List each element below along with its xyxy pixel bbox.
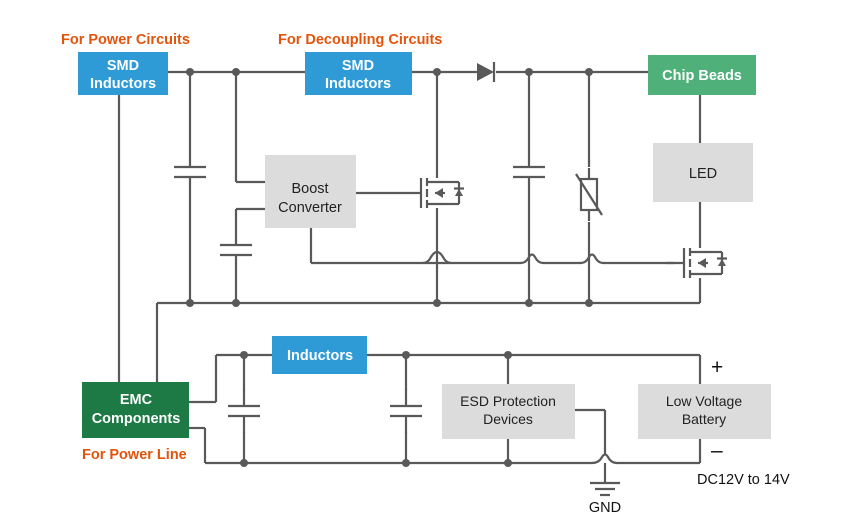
block-label-emc-line2: Components	[92, 411, 181, 427]
junction-dot	[232, 299, 240, 307]
block-label-battery-line1: Low Voltage	[666, 393, 742, 409]
battery-voltage-label: DC12V to 14V	[697, 472, 790, 488]
junction-dot	[402, 459, 410, 467]
block-emc-components[interactable]: EMC Components	[82, 382, 189, 438]
block-label-esd-line1: ESD Protection	[460, 393, 556, 409]
capacitor-symbol-c4	[228, 389, 260, 433]
block-smd-inductors-power[interactable]: SMD Inductors	[78, 52, 168, 95]
mosfet-symbol-2	[666, 248, 727, 278]
block-label-emc-line1: EMC	[120, 392, 153, 408]
circuit-diagram: SMD Inductors SMD Inductors Chip Beads B…	[0, 0, 848, 518]
battery-negative-label: –	[711, 439, 723, 462]
junction-dot	[240, 351, 248, 359]
capacitor-symbol-c2	[220, 228, 252, 272]
junction-dot	[240, 459, 248, 467]
junction-dot	[186, 299, 194, 307]
block-label-smd-power-line2: Inductors	[90, 76, 156, 92]
note-for-decoupling-circuits: For Decoupling Circuits	[278, 32, 442, 48]
ground-label: GND	[589, 500, 621, 516]
note-for-power-line: For Power Line	[82, 447, 187, 463]
block-label-smd-decoupling-line1: SMD	[342, 58, 374, 74]
junction-dot	[525, 299, 533, 307]
block-label-boost-line1: Boost	[291, 181, 328, 197]
block-chip-beads[interactable]: Chip Beads	[648, 55, 756, 95]
capacitor-symbol-c1	[174, 150, 206, 194]
capacitor-symbol-c3	[513, 150, 545, 194]
block-esd-protection-devices[interactable]: ESD Protection Devices	[442, 384, 575, 439]
capacitor-symbol-c5	[390, 389, 422, 433]
block-label-inductors: Inductors	[287, 348, 353, 364]
note-for-power-circuits: For Power Circuits	[61, 32, 190, 48]
block-label-smd-decoupling-line2: Inductors	[325, 76, 391, 92]
junction-dot	[402, 351, 410, 359]
block-inductors[interactable]: Inductors	[272, 336, 367, 374]
block-label-battery-line2: Battery	[682, 411, 726, 427]
wire-ground-bus	[430, 255, 674, 264]
diode-symbol	[477, 62, 494, 82]
block-smd-inductors-decoupling[interactable]: SMD Inductors	[305, 52, 412, 95]
battery-positive-label: +	[711, 356, 723, 379]
ground-symbol	[590, 471, 620, 495]
junction-dot	[525, 68, 533, 76]
block-boost-converter[interactable]: Boost Converter	[265, 155, 356, 228]
junction-dot	[504, 459, 512, 467]
wire-hop-gnd	[592, 455, 700, 464]
junction-dot	[504, 351, 512, 359]
block-led[interactable]: LED	[653, 143, 753, 202]
block-label-chip-beads: Chip Beads	[662, 68, 742, 84]
diagram-canvas: SMD Inductors SMD Inductors Chip Beads B…	[0, 0, 848, 518]
junction-dot	[585, 299, 593, 307]
wire-network	[119, 62, 700, 471]
junction-dot	[433, 299, 441, 307]
component-symbols	[174, 150, 727, 495]
junction-dot	[433, 68, 441, 76]
block-low-voltage-battery[interactable]: Low Voltage Battery	[638, 384, 771, 439]
junction-dot	[585, 68, 593, 76]
varistor-symbol	[576, 168, 602, 221]
block-label-led: LED	[689, 166, 717, 182]
junction-dot	[186, 68, 194, 76]
junction-dot	[232, 68, 240, 76]
block-label-esd-line2: Devices	[483, 411, 533, 427]
mosfet-symbol-1	[403, 178, 464, 208]
block-label-smd-power-line1: SMD	[107, 58, 139, 74]
block-label-boost-line2: Converter	[278, 200, 342, 216]
